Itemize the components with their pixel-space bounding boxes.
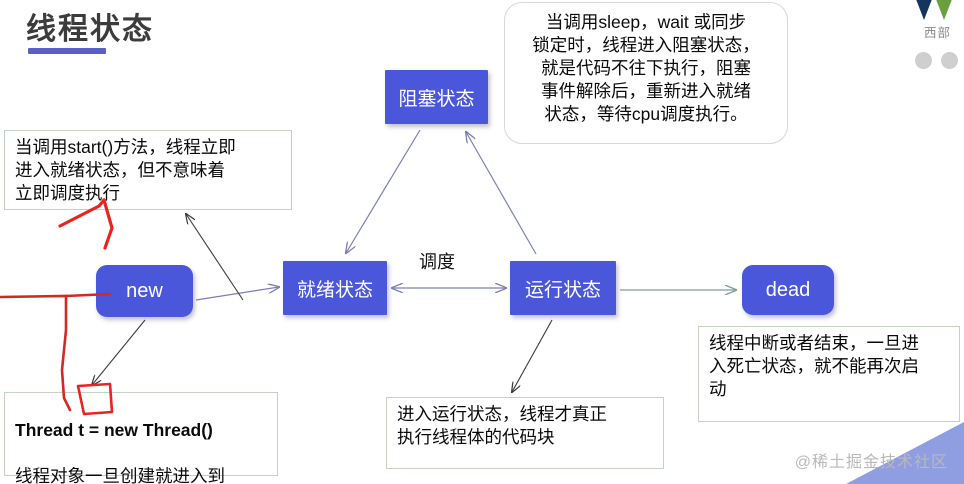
note-thread-create-desc: 线程对象一旦创建就进入到 了新生状态 xyxy=(15,466,225,484)
state-box-dead[interactable]: dead xyxy=(742,265,834,315)
page-title: 线程状态 xyxy=(26,4,154,48)
brand-dot-2 xyxy=(941,52,958,69)
state-box-runnable[interactable]: 就绪状态 xyxy=(283,261,387,315)
note-running-explain: 进入运行状态，线程才真正 执行线程体的代码块 xyxy=(386,397,664,469)
state-box-new[interactable]: new xyxy=(96,265,193,317)
edge-label-schedule: 调度 xyxy=(419,248,455,274)
state-box-running[interactable]: 运行状态 xyxy=(510,261,616,315)
pointer-new-to-thread-note xyxy=(92,320,145,385)
note-blocked-explain: 当调用sleep，wait 或同步 锁定时，线程进入阻塞状态， 就是代码不往下执… xyxy=(504,2,788,144)
note-start-method: 当调用start()方法，线程立即 进入就绪状态，但不意味着 立即调度执行 xyxy=(4,130,292,210)
slide-canvas: 线程状态 西部 当调用start()方法，线程立即 进入就绪状态，但不意味着 立… xyxy=(0,0,964,484)
note-thread-create-code: Thread t = new Thread() xyxy=(15,419,269,442)
note-thread-create: Thread t = new Thread() 线程对象一旦创建就进入到 了新生… xyxy=(4,392,278,476)
edge-new-to-runnable xyxy=(196,287,279,300)
brand-dot-1 xyxy=(915,52,932,69)
edge-blocked-to-runnable xyxy=(346,130,420,253)
brand-dots xyxy=(915,52,958,69)
edge-running-to-blocked xyxy=(466,132,536,254)
brand-name-label: 西部 xyxy=(924,22,960,41)
state-box-blocked[interactable]: 阻塞状态 xyxy=(385,70,488,124)
pointer-note-start-method xyxy=(186,214,243,300)
watermark-label: @稀土掘金技术社区 xyxy=(795,448,948,472)
pointer-running-to-note xyxy=(512,320,552,392)
note-dead-explain: 线程中断或者结束，一旦进 入死亡状态，就不能再次启 动 xyxy=(698,326,960,422)
title-underline xyxy=(28,48,106,54)
